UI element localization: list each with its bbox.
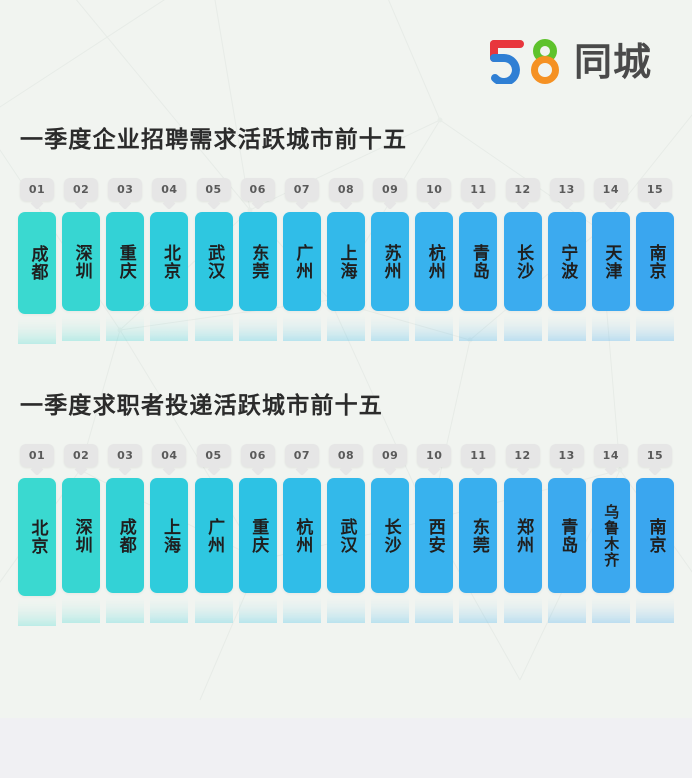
city-name: 重庆 — [248, 518, 267, 554]
city-bar-wrapper: 北京 — [18, 478, 56, 596]
city-name: 重庆 — [116, 244, 135, 280]
rank-badge: 13 — [550, 178, 584, 201]
rank-badge: 06 — [241, 178, 275, 201]
rank-number: 09 — [382, 449, 398, 462]
city-name: 宁波 — [557, 244, 576, 280]
bar-reflection — [150, 593, 188, 623]
city-bar[interactable]: 成都 — [106, 478, 144, 593]
city-bar[interactable]: 杭州 — [283, 478, 321, 593]
rank-number: 12 — [514, 449, 530, 462]
city-name: 杭州 — [425, 244, 444, 280]
city-bar-wrapper: 宁波 — [548, 212, 586, 311]
city-bar-wrapper: 广州 — [283, 212, 321, 311]
city-name: 杭州 — [292, 518, 311, 554]
bar-reflection — [371, 311, 409, 341]
city-bar-wrapper: 青岛 — [548, 478, 586, 593]
city-bar-wrapper: 天津 — [592, 212, 630, 311]
city-bar[interactable]: 东莞 — [239, 212, 277, 311]
city-bar[interactable]: 长沙 — [371, 478, 409, 593]
bar-reflection — [327, 593, 365, 623]
city-bar[interactable]: 青岛 — [459, 212, 497, 311]
rank-number: 01 — [29, 183, 45, 196]
rank-column[interactable]: 12郑州 — [504, 444, 542, 593]
city-bar-wrapper: 重庆 — [239, 478, 277, 593]
city-bar[interactable]: 青岛 — [548, 478, 586, 593]
city-bar[interactable]: 西安 — [415, 478, 453, 593]
city-bar-wrapper: 郑州 — [504, 478, 542, 593]
rank-number: 01 — [29, 449, 45, 462]
rank-column[interactable]: 13青岛 — [548, 444, 586, 593]
city-name: 乌鲁木齐 — [602, 504, 619, 568]
city-bar[interactable]: 郑州 — [504, 478, 542, 593]
bar-reflection — [636, 593, 674, 623]
bar-reflection — [592, 593, 630, 623]
section-title: 一季度求职者投递活跃城市前十五 — [20, 386, 692, 420]
city-name: 南京 — [645, 518, 664, 554]
rank-number: 15 — [647, 449, 663, 462]
city-bar[interactable]: 北京 — [18, 478, 56, 596]
city-bar-wrapper: 成都 — [18, 212, 56, 314]
city-bar-wrapper: 南京 — [636, 212, 674, 311]
background-texture — [0, 0, 692, 718]
bar-reflection — [548, 311, 586, 341]
rank-column[interactable]: 02深圳 — [62, 444, 100, 593]
rank-column[interactable]: 02深圳 — [62, 178, 100, 311]
rank-column[interactable]: 03成都 — [106, 444, 144, 593]
rank-column[interactable]: 06东莞 — [239, 178, 277, 311]
city-bar-wrapper: 成都 — [106, 478, 144, 593]
rank-number: 07 — [294, 183, 310, 196]
rank-number: 05 — [205, 183, 221, 196]
rank-badge: 02 — [64, 178, 98, 201]
rank-badge: 03 — [108, 178, 142, 201]
rank-badge: 11 — [461, 178, 495, 201]
city-name: 东莞 — [248, 244, 267, 280]
brand-logo: 同城 — [486, 38, 652, 84]
city-bar-wrapper: 西安 — [415, 478, 453, 593]
bar-reflection — [195, 311, 233, 341]
city-bar[interactable]: 深圳 — [62, 212, 100, 311]
city-bar-wrapper: 杭州 — [283, 478, 321, 593]
rank-badge: 14 — [594, 444, 628, 467]
rank-badge: 03 — [108, 444, 142, 467]
rank-badge: 08 — [329, 444, 363, 467]
city-name: 北京 — [27, 519, 46, 555]
rank-column[interactable]: 04上海 — [150, 444, 188, 593]
city-name: 长沙 — [381, 518, 400, 554]
rank-column[interactable]: 09长沙 — [371, 444, 409, 593]
rank-badge: 07 — [285, 444, 319, 467]
bar-reflection — [283, 311, 321, 341]
rank-column[interactable]: 07广州 — [283, 178, 321, 311]
rank-badge: 12 — [506, 178, 540, 201]
city-bar-wrapper: 上海 — [150, 478, 188, 593]
rank-badge: 01 — [20, 444, 54, 467]
city-bar-wrapper: 重庆 — [106, 212, 144, 311]
city-bar[interactable]: 东莞 — [459, 478, 497, 593]
rank-number: 15 — [647, 183, 663, 196]
rank-badge: 10 — [417, 178, 451, 201]
rank-badge: 07 — [285, 178, 319, 201]
section-title: 一季度企业招聘需求活跃城市前十五 — [20, 120, 692, 154]
bar-reflection — [459, 311, 497, 341]
bar-reflection — [415, 593, 453, 623]
city-name: 广州 — [204, 518, 223, 554]
rank-number: 09 — [382, 183, 398, 196]
city-bar-wrapper: 东莞 — [459, 478, 497, 593]
rank-number: 12 — [514, 183, 530, 196]
bar-reflection — [18, 314, 56, 344]
city-bar[interactable]: 广州 — [195, 478, 233, 593]
rank-number: 03 — [117, 183, 133, 196]
city-bar[interactable]: 重庆 — [239, 478, 277, 593]
city-name: 上海 — [160, 518, 179, 554]
rank-badge: 15 — [638, 178, 672, 201]
rank-column[interactable]: 10杭州 — [415, 178, 453, 311]
bar-reflection — [592, 311, 630, 341]
city-bar-wrapper: 乌鲁木齐 — [592, 478, 630, 593]
city-name: 青岛 — [557, 518, 576, 554]
rank-column[interactable]: 15南京 — [636, 178, 674, 311]
bar-reflection — [106, 593, 144, 623]
bar-reflection — [636, 311, 674, 341]
rank-badge: 04 — [152, 178, 186, 201]
city-bar[interactable]: 北京 — [150, 212, 188, 311]
city-bar-wrapper: 南京 — [636, 478, 674, 593]
city-bar[interactable]: 武汉 — [327, 478, 365, 593]
city-name: 武汉 — [336, 518, 355, 554]
city-bar-wrapper: 深圳 — [62, 212, 100, 311]
city-name: 成都 — [116, 518, 135, 554]
city-bar-wrapper: 青岛 — [459, 212, 497, 311]
city-bar[interactable]: 广州 — [283, 212, 321, 311]
city-name: 北京 — [160, 244, 179, 280]
rank-number: 13 — [559, 449, 575, 462]
city-bar-wrapper: 武汉 — [195, 212, 233, 311]
bar-reflection — [504, 593, 542, 623]
rank-column[interactable]: 04北京 — [150, 178, 188, 311]
city-bar-wrapper: 东莞 — [239, 212, 277, 311]
section-jobseeker-applications: 一季度求职者投递活跃城市前十五 01北京02深圳03成都04上海05广州06重庆… — [0, 386, 692, 594]
city-name: 东莞 — [469, 518, 488, 554]
bar-reflection — [106, 311, 144, 341]
city-name: 广州 — [292, 244, 311, 280]
rank-column[interactable]: 08武汉 — [327, 444, 365, 593]
city-name: 郑州 — [513, 518, 532, 554]
rank-column[interactable]: 07杭州 — [283, 444, 321, 593]
rank-column[interactable]: 14天津 — [592, 178, 630, 311]
rank-number: 11 — [470, 449, 486, 462]
rank-column[interactable]: 03重庆 — [106, 178, 144, 311]
city-bar[interactable]: 杭州 — [415, 212, 453, 311]
city-bar[interactable]: 成都 — [18, 212, 56, 314]
rank-badge: 04 — [152, 444, 186, 467]
city-bar[interactable]: 深圳 — [62, 478, 100, 593]
rank-column[interactable]: 15南京 — [636, 444, 674, 593]
city-name: 上海 — [336, 244, 355, 280]
rank-column[interactable]: 10西安 — [415, 444, 453, 593]
city-bar-wrapper: 广州 — [195, 478, 233, 593]
bar-reflection — [548, 593, 586, 623]
rank-number: 08 — [338, 183, 354, 196]
rank-number: 14 — [603, 449, 619, 462]
city-bar-wrapper: 苏州 — [371, 212, 409, 311]
city-bar[interactable]: 天津 — [592, 212, 630, 311]
logo-wordmark: 同城 — [574, 43, 652, 81]
city-name: 深圳 — [72, 518, 91, 554]
rank-badge: 15 — [638, 444, 672, 467]
rank-column[interactable]: 12长沙 — [504, 178, 542, 311]
city-bar[interactable]: 上海 — [150, 478, 188, 593]
city-bar-wrapper: 武汉 — [327, 478, 365, 593]
bar-reflection — [239, 593, 277, 623]
rank-column[interactable]: 14乌鲁木齐 — [592, 444, 630, 593]
rank-number: 03 — [117, 449, 133, 462]
rank-badge: 14 — [594, 178, 628, 201]
rank-badge: 10 — [417, 444, 451, 467]
bar-reflection — [415, 311, 453, 341]
city-name: 成都 — [27, 245, 46, 281]
rank-badge: 01 — [20, 178, 54, 201]
rank-column[interactable]: 01成都 — [18, 178, 56, 314]
city-name: 西安 — [425, 518, 444, 554]
city-bar[interactable]: 上海 — [327, 212, 365, 311]
rank-number: 06 — [250, 449, 266, 462]
rank-columns: 01成都02深圳03重庆04北京05武汉06东莞07广州08上海09苏州10杭州… — [18, 178, 674, 328]
bar-reflection — [195, 593, 233, 623]
rank-number: 06 — [250, 183, 266, 196]
rank-number: 04 — [161, 449, 177, 462]
rank-number: 14 — [603, 183, 619, 196]
city-name: 长沙 — [513, 244, 532, 280]
rank-number: 13 — [559, 183, 575, 196]
rank-badge: 05 — [197, 444, 231, 467]
rank-column[interactable]: 06重庆 — [239, 444, 277, 593]
rank-number: 02 — [73, 183, 89, 196]
city-bar[interactable]: 乌鲁木齐 — [592, 478, 630, 593]
rank-badge: 11 — [461, 444, 495, 467]
bar-reflection — [150, 311, 188, 341]
rank-column[interactable]: 08上海 — [327, 178, 365, 311]
city-bar[interactable]: 宁波 — [548, 212, 586, 311]
rank-badge: 09 — [373, 178, 407, 201]
city-bar-wrapper: 长沙 — [504, 212, 542, 311]
rank-number: 10 — [426, 183, 442, 196]
bar-reflection — [283, 593, 321, 623]
rank-column[interactable]: 01北京 — [18, 444, 56, 596]
bar-reflection — [62, 311, 100, 341]
rank-number: 02 — [73, 449, 89, 462]
rank-column[interactable]: 11东莞 — [459, 444, 497, 593]
logo-58-icon — [486, 38, 568, 84]
rank-column[interactable]: 05武汉 — [195, 178, 233, 311]
rank-number: 05 — [205, 449, 221, 462]
rank-badge: 06 — [241, 444, 275, 467]
rank-column[interactable]: 11青岛 — [459, 178, 497, 311]
bar-reflection — [18, 596, 56, 626]
city-name: 南京 — [645, 244, 664, 280]
city-name: 青岛 — [469, 244, 488, 280]
bar-reflection — [239, 311, 277, 341]
city-bar[interactable]: 南京 — [636, 478, 674, 593]
city-bar[interactable]: 长沙 — [504, 212, 542, 311]
rank-number: 08 — [338, 449, 354, 462]
rank-column[interactable]: 09苏州 — [371, 178, 409, 311]
bar-reflection — [62, 593, 100, 623]
rank-number: 10 — [426, 449, 442, 462]
bar-reflection — [504, 311, 542, 341]
rank-bar-chart: 01北京02深圳03成都04上海05广州06重庆07杭州08武汉09长沙10西安… — [0, 444, 692, 594]
city-bar-wrapper: 北京 — [150, 212, 188, 311]
rank-badge: 05 — [197, 178, 231, 201]
rank-column[interactable]: 05广州 — [195, 444, 233, 593]
rank-number: 07 — [294, 449, 310, 462]
bar-reflection — [327, 311, 365, 341]
city-bar-wrapper: 杭州 — [415, 212, 453, 311]
rank-badge: 13 — [550, 444, 584, 467]
city-bar[interactable]: 南京 — [636, 212, 674, 311]
rank-badge: 09 — [373, 444, 407, 467]
section-recruitment-demand: 一季度企业招聘需求活跃城市前十五 01成都02深圳03重庆04北京05武汉06东… — [0, 120, 692, 328]
city-bar-wrapper: 长沙 — [371, 478, 409, 593]
city-name: 深圳 — [72, 244, 91, 280]
rank-number: 04 — [161, 183, 177, 196]
city-bar-wrapper: 上海 — [327, 212, 365, 311]
page-footer-band — [0, 718, 692, 778]
rank-badge: 12 — [506, 444, 540, 467]
city-name: 武汉 — [204, 244, 223, 280]
city-name: 苏州 — [381, 244, 400, 280]
rank-badge: 02 — [64, 444, 98, 467]
rank-badge: 08 — [329, 178, 363, 201]
city-bar[interactable]: 重庆 — [106, 212, 144, 311]
city-bar[interactable]: 苏州 — [371, 212, 409, 311]
infographic-canvas: 同城 一季度企业招聘需求活跃城市前十五 01成都02深圳03重庆04北京05武汉… — [0, 0, 692, 718]
rank-number: 11 — [470, 183, 486, 196]
city-name: 天津 — [601, 244, 620, 280]
rank-bar-chart: 01成都02深圳03重庆04北京05武汉06东莞07广州08上海09苏州10杭州… — [0, 178, 692, 328]
bar-reflection — [371, 593, 409, 623]
city-bar-wrapper: 深圳 — [62, 478, 100, 593]
rank-columns: 01北京02深圳03成都04上海05广州06重庆07杭州08武汉09长沙10西安… — [18, 444, 674, 594]
bar-reflection — [459, 593, 497, 623]
rank-column[interactable]: 13宁波 — [548, 178, 586, 311]
city-bar[interactable]: 武汉 — [195, 212, 233, 311]
